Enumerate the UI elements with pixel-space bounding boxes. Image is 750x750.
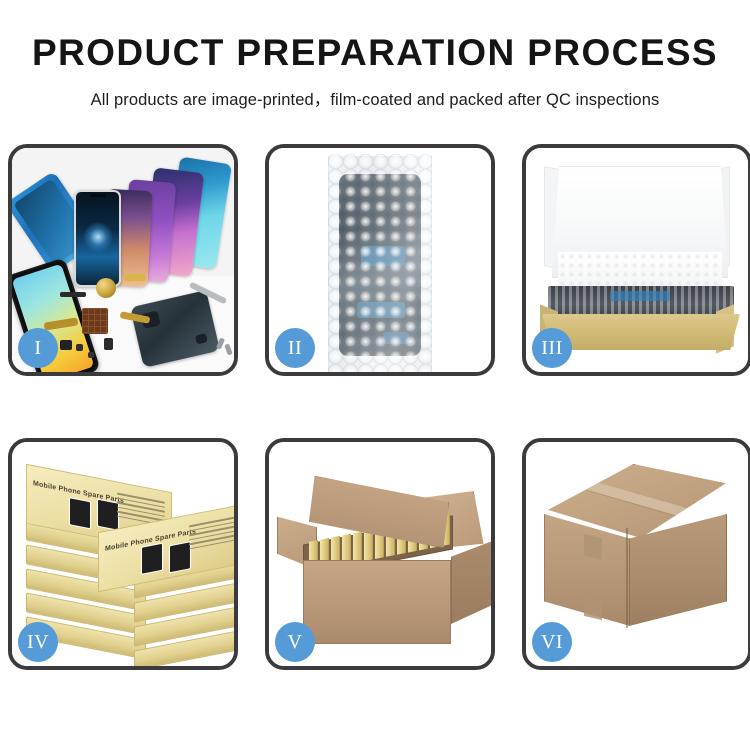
small-part-5 [88, 352, 94, 358]
box-spec-lines-2 [189, 516, 234, 552]
page-title: PRODUCT PREPARATION PROCESS [0, 34, 750, 73]
small-part-1 [60, 340, 72, 350]
step-badge-1: I [18, 328, 58, 368]
product-preparation-infographic: PRODUCT PREPARATION PROCESS All products… [0, 0, 750, 750]
process-steps-grid: I II [8, 144, 745, 692]
page-subtitle: All products are image-printed，film-coat… [0, 86, 750, 110]
box-window-2a [141, 543, 163, 575]
step-panel-bubble-wrap-packing: II [265, 144, 495, 376]
step-panel-products-and-spare-parts: I [8, 144, 238, 376]
step-badge-4: IV [18, 622, 58, 662]
carton-tape-tab-lower [584, 596, 602, 620]
earpiece-part [60, 292, 86, 297]
blue-label-strip [610, 291, 670, 301]
header: PRODUCT PREPARATION PROCESS All products… [0, 0, 750, 110]
small-part-2 [104, 338, 113, 350]
box-window-2b [169, 541, 191, 573]
speaker-part-icon [96, 278, 116, 298]
box-window-1b [97, 499, 119, 531]
step-panel-inner-box-packing: III [522, 144, 750, 376]
step-badge-5: V [275, 622, 315, 662]
carton-tape-tab-upper [584, 534, 602, 560]
phone-notch [90, 194, 106, 197]
step-panel-carton-filling: V [265, 438, 495, 670]
carton-corner-seam [626, 528, 628, 628]
step-badge-3: III [532, 328, 572, 368]
phone-display-5 [74, 190, 121, 287]
carton-side-panel [451, 540, 491, 624]
flex-cable-3 [124, 274, 146, 281]
box-window-1a [69, 497, 91, 529]
chip-grid-part [82, 308, 108, 334]
step-panel-carton-sealed: VI [522, 438, 750, 670]
step-badge-6: VI [532, 622, 572, 662]
step-panel-boxes-stacked: Mobile Phone Spare Parts Mobile Phone Sp… [8, 438, 238, 670]
carton-front-panel [303, 560, 451, 644]
step-badge-2: II [275, 328, 315, 368]
small-part-3 [76, 344, 83, 351]
